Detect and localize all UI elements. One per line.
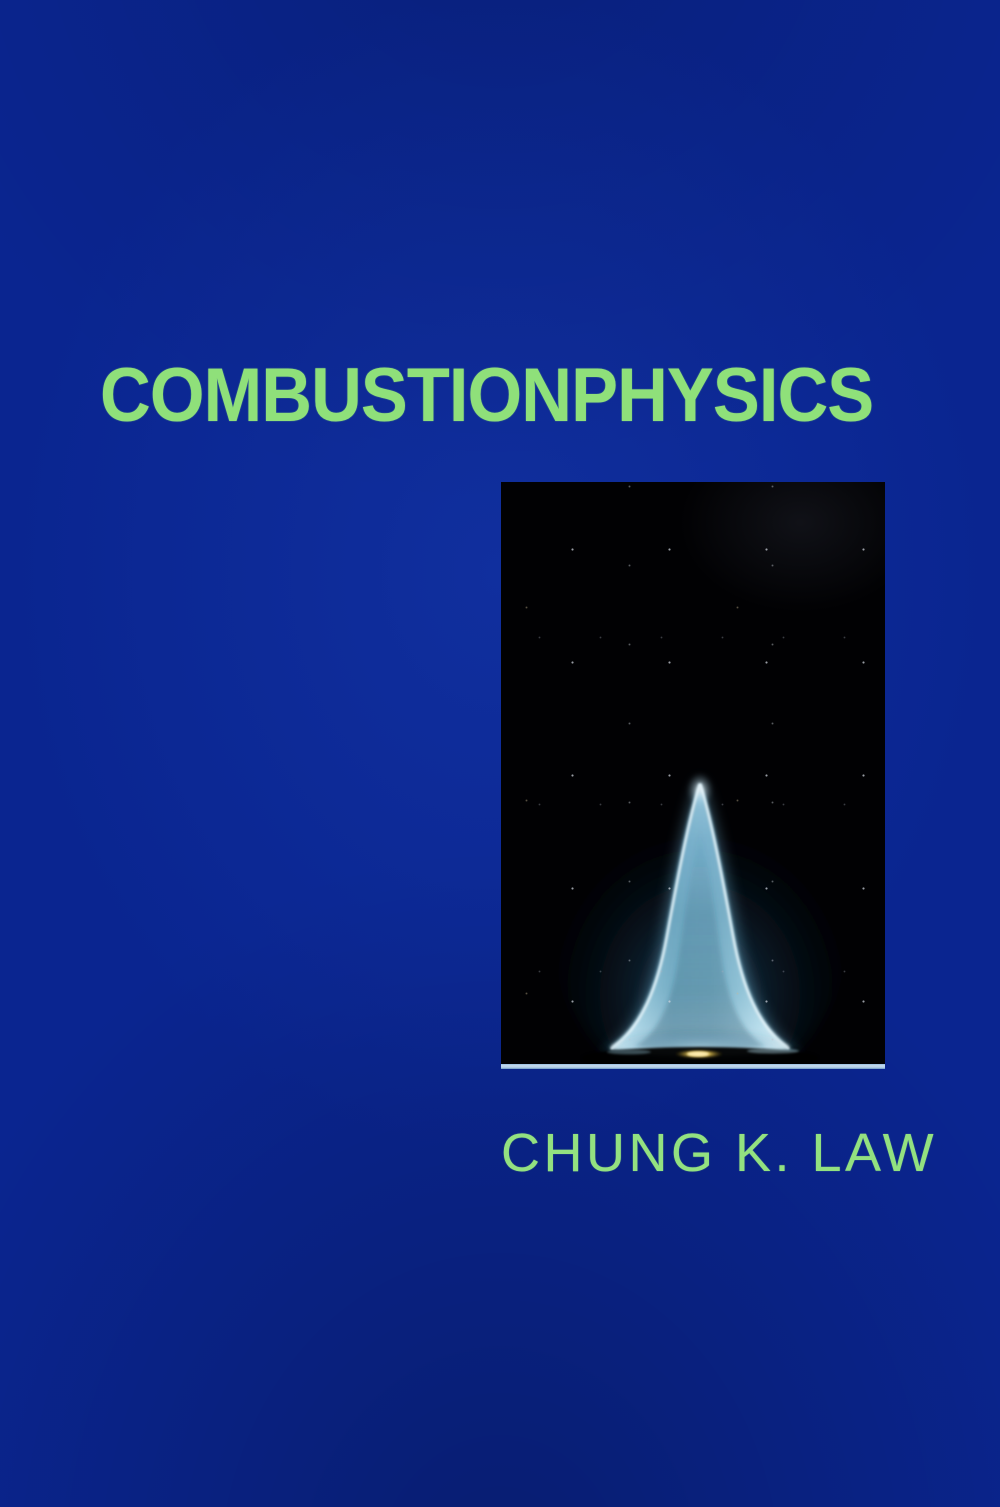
title-word-physics: PHYSICS	[571, 358, 873, 434]
title-word-combustion: COMBUSTION	[100, 358, 571, 434]
cover-photo-panel	[501, 482, 885, 1064]
author-name: CHUNG K. LAW	[501, 1124, 885, 1182]
flame-illustration	[501, 482, 885, 1064]
photo-underline-rule	[501, 1064, 885, 1069]
flame-svg	[501, 482, 885, 1064]
book-title: COMBUSTION PHYSICS	[100, 356, 859, 436]
book-front-cover: COMBUSTION PHYSICS	[0, 0, 1000, 1507]
